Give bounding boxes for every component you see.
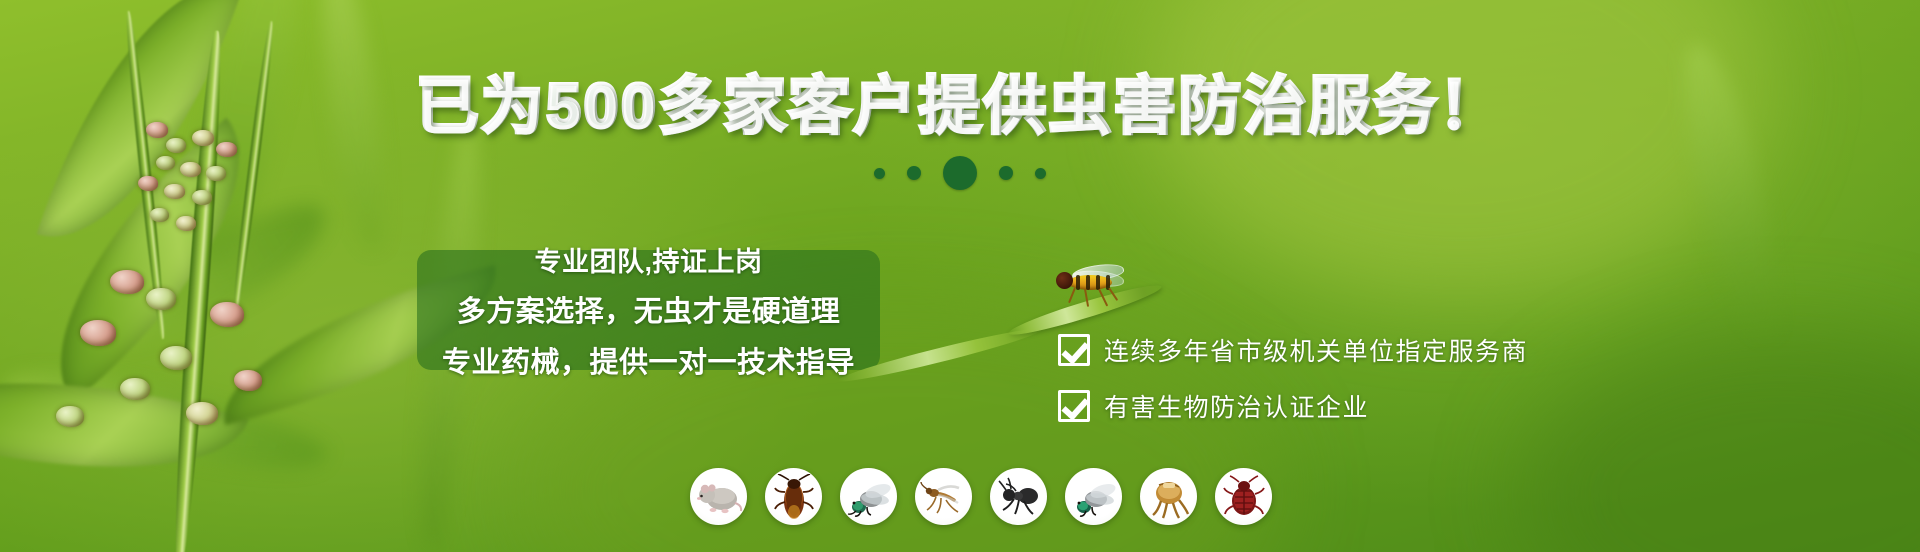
ant-icon	[990, 468, 1047, 525]
bedbug-icon-glyph	[1223, 475, 1265, 519]
decor-dot-medium	[999, 166, 1013, 180]
greenbottle-fly-icon-glyph	[1070, 477, 1118, 517]
plant-bud	[176, 216, 196, 231]
plant-bud	[234, 370, 262, 391]
ant-icon-glyph	[997, 477, 1041, 517]
plant-bud	[56, 406, 84, 427]
bg-glow	[1150, 0, 1770, 300]
hoverfly-leg	[1108, 287, 1118, 301]
decorative-dot-row	[0, 156, 1920, 190]
decor-dot-small	[874, 168, 885, 179]
plant-bud	[160, 346, 192, 370]
plant-bud	[216, 142, 237, 157]
hoverfly-leg	[1068, 288, 1076, 304]
plant-bud	[120, 378, 150, 400]
cockroach-icon-glyph	[773, 474, 815, 520]
promo-banner: 已为500多家客户提供虫害防治服务！ 专业团队,持证上岗 多方案选择，无虫才是硬…	[0, 0, 1920, 552]
mosquito-icon	[915, 468, 972, 525]
decor-dot-medium	[907, 166, 921, 180]
feature-panel: 专业团队,持证上岗 多方案选择，无虫才是硬道理 专业药械，提供一对一技术指导	[417, 250, 880, 370]
plant-bud	[210, 302, 244, 327]
checkbox-check-icon	[1058, 390, 1090, 422]
flea-icon-glyph	[1147, 475, 1191, 519]
greenbottle-fly-icon	[1065, 468, 1122, 525]
hoverfly-icon	[1050, 262, 1138, 304]
mouse-icon	[690, 468, 747, 525]
plant-bud	[166, 138, 186, 153]
decor-dot-small	[1035, 168, 1046, 179]
mouse-icon-glyph	[695, 477, 743, 517]
bg-glow	[1520, 330, 1920, 552]
hoverfly-leg	[1098, 289, 1108, 307]
plant-bud	[186, 402, 218, 425]
plant-bud	[192, 190, 212, 205]
banner-headline: 已为500多家客户提供虫害防治服务！	[0, 76, 1920, 138]
housefly-icon-glyph	[845, 477, 893, 517]
feature-panel-line-2: 多方案选择，无虫才是硬道理	[457, 288, 841, 330]
decor-dot-large	[943, 156, 977, 190]
pest-icon-row	[690, 468, 1272, 525]
banner-headline-text: 已为500多家客户提供虫害防治服务！	[416, 72, 1503, 141]
cockroach-icon	[765, 468, 822, 525]
plant-bud	[110, 270, 144, 294]
feature-panel-line-1: 专业团队,持证上岗	[534, 240, 762, 279]
flea-icon	[1140, 468, 1197, 525]
certification-checklist: 连续多年省市级机关单位指定服务商 有害生物防治认证企业	[1058, 332, 1528, 444]
plant-bud	[150, 208, 169, 222]
hoverfly-stripe	[1076, 275, 1080, 290]
hoverfly-head	[1056, 272, 1073, 289]
housefly-icon	[840, 468, 897, 525]
plant-bud	[80, 320, 116, 346]
feature-panel-line-3: 专业药械，提供一对一技术指导	[442, 339, 855, 381]
hoverfly-stripe	[1086, 275, 1090, 290]
checklist-item: 连续多年省市级机关单位指定服务商	[1058, 332, 1528, 368]
checklist-item-label: 连续多年省市级机关单位指定服务商	[1104, 332, 1528, 368]
mosquito-icon-glyph	[920, 478, 968, 516]
plant-bud	[146, 288, 176, 310]
bedbug-icon	[1215, 468, 1272, 525]
checkbox-check-icon	[1058, 334, 1090, 366]
checklist-item: 有害生物防治认证企业	[1058, 388, 1528, 424]
checklist-item-label: 有害生物防治认证企业	[1104, 388, 1369, 424]
